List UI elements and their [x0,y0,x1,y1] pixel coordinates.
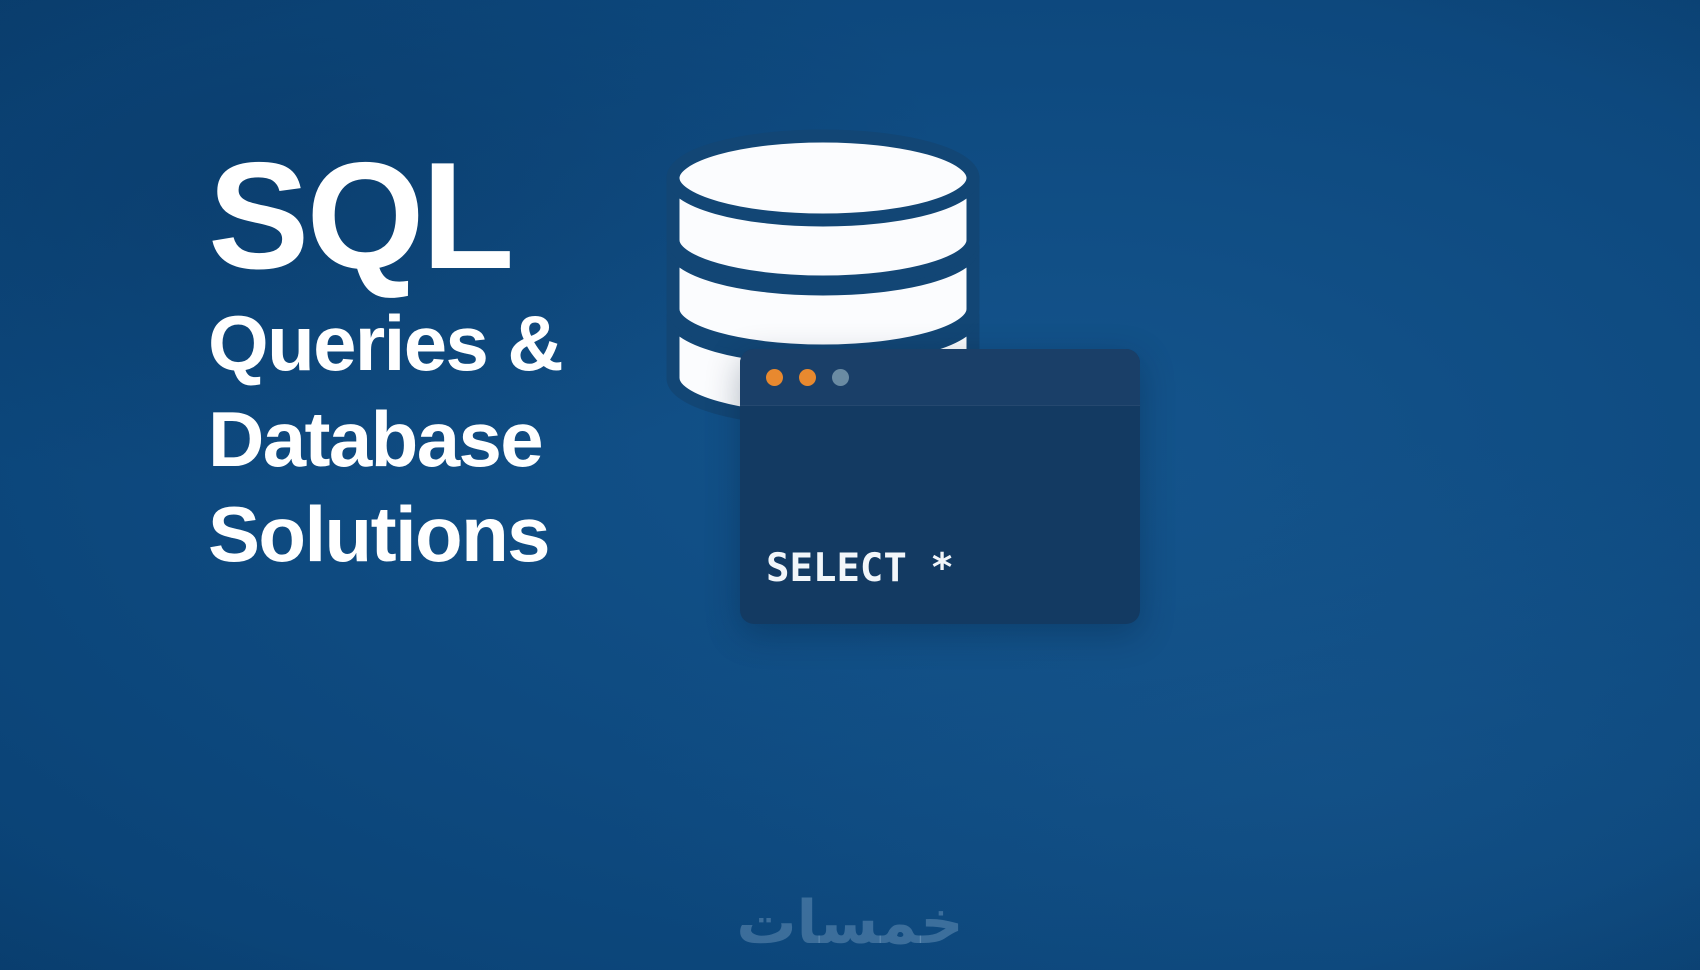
window-dot-minimize-icon[interactable] [799,369,816,386]
subtitle-line-3: Solutions [208,487,728,582]
headline-block: SQL Queries & Database Solutions [208,143,728,582]
code-window[interactable]: SELECT * FROM tabie_name WHERE condition… [740,349,1140,624]
db-disc-top [673,136,973,220]
page-title: SQL [208,143,728,290]
subtitle-line-2: Database [208,392,728,487]
window-dot-maximize-icon[interactable] [832,369,849,386]
window-dot-close-icon[interactable] [766,369,783,386]
code-line-select: SELECT * [766,541,1140,596]
poster-canvas: SQL Queries & Database Solutions [0,0,1700,970]
subtitle-line-1: Queries & [208,296,728,391]
code-window-titlebar[interactable] [740,349,1140,406]
watermark: خمسات [0,888,1700,958]
code-editor-body[interactable]: SELECT * FROM tabie_name WHERE condition… [740,406,1140,624]
